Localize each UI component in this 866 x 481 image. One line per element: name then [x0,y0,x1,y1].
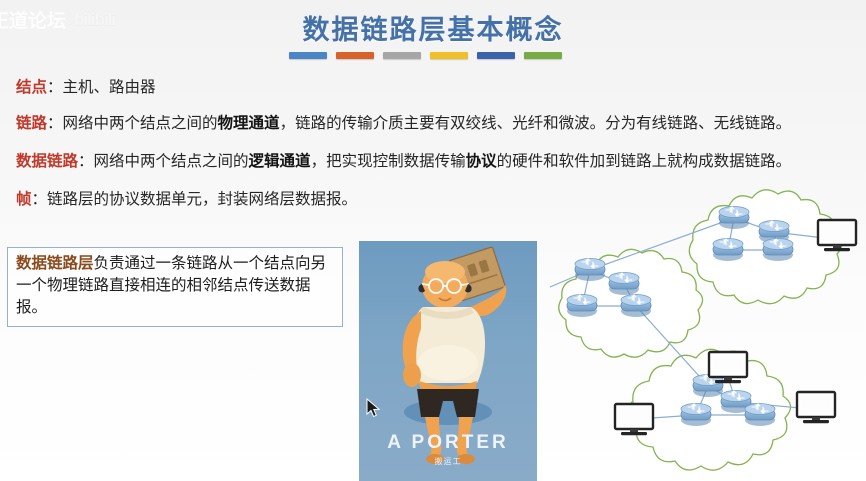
term-text-middle: ，把实现控制数据传输 [311,153,466,170]
term-emphasis: 物理通道 [218,115,280,132]
porter-caption: A PORTER 搬运工 [359,432,537,467]
term-emphasis: 逻辑通道 [249,153,311,170]
definition-item-node: 结点：主机、路由器 [8,76,162,99]
term-separator: ： [78,153,94,170]
network-topology-diagram [528,170,866,481]
bar-gray [383,52,421,59]
bar-yellow [430,52,468,59]
term-separator: ： [47,115,63,132]
term-text: 链路层的协议数据单元，封装网络层数据报。 [47,191,357,208]
definition-item-link: 链路：网络中两个结点之间的物理通道，链路的传输介质主要有双绞线、光纤和微波。分为… [8,112,797,135]
callout-highlight: 数据链路层 [16,255,94,272]
page-title-wrap: 数据链路层基本概念 [0,8,866,47]
mouse-cursor-icon [366,398,382,420]
term-keyword: 链路 [16,115,47,132]
page-title: 数据链路层基本概念 [303,8,564,47]
bar-blue [289,52,327,59]
porter-caption-en: A PORTER [359,432,537,454]
bar-green [524,52,562,59]
router-icon [609,273,639,296]
router-icon [575,259,605,282]
bar-orange [336,52,374,59]
slide-canvas: 正道论坛 bilibili 数据链路层基本概念 结点：主机、路由器 链路：网络中… [0,0,866,481]
term-text: 网络中两个结点之间的 [94,153,249,170]
router-icon [745,404,775,427]
term-separator: ： [32,191,48,208]
term-emphasis-2: 协议 [466,153,497,170]
term-text-middle: ，链路的传输介质主要有双绞线、光纤和微波。分为有线链路、无线链路。 [280,115,792,132]
router-icon [713,239,743,262]
porter-caption-cn: 搬运工 [359,456,537,467]
title-decoration-bars [289,52,562,59]
monitor-icon [797,392,835,423]
bar-darkblue [477,52,515,59]
term-text: 网络中两个结点之间的 [63,115,218,132]
router-icon [567,295,597,318]
router-icon [621,295,651,318]
term-text-after: 的硬件和软件加到链路上就构成数据链路。 [497,153,792,170]
term-keyword: 数据链路 [16,153,78,170]
router-icon [719,207,749,230]
term-text: 主机、路由器 [63,79,156,96]
term-keyword: 帧 [16,191,32,208]
porter-illustration: A PORTER 搬运工 [359,241,537,481]
router-icon [681,404,711,427]
term-separator: ： [47,79,63,96]
term-keyword: 结点 [16,79,47,96]
router-icon [763,239,793,262]
definition-item-frame: 帧：链路层的协议数据单元，封装网络层数据报。 [8,188,363,211]
callout-box: 数据链路层负责通过一条链路从一个结点向另一个物理链路直接相连的相邻结点传送数据报… [7,247,343,327]
